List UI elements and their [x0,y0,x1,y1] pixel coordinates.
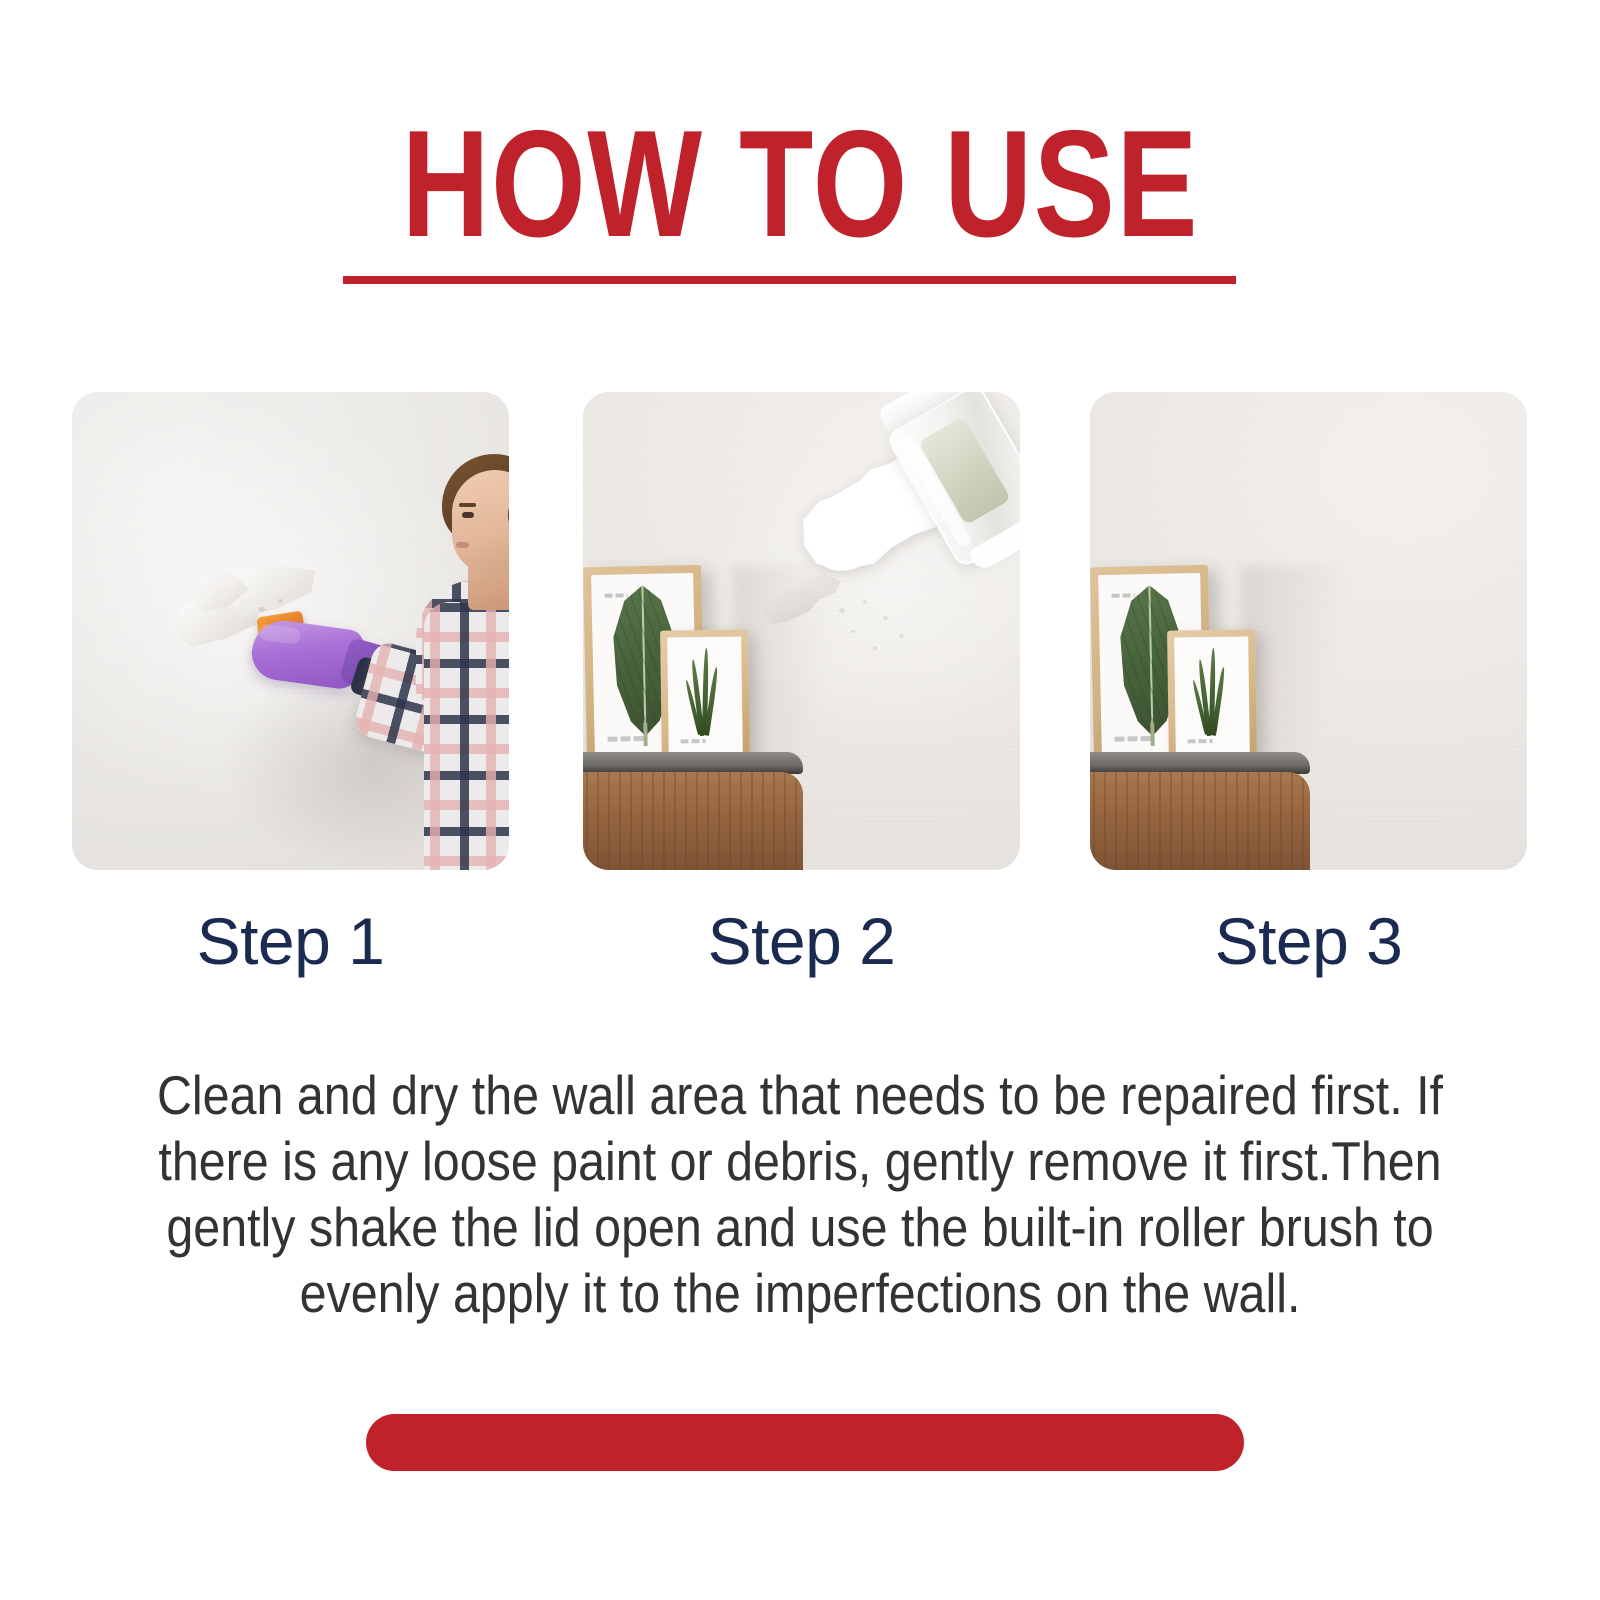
wooden-sideboard [1090,752,1310,870]
page-title: HOW TO USE [0,108,1600,260]
artwork-caption [1187,739,1212,743]
leaf-stem [644,723,648,747]
step-cards-row [0,392,1600,870]
instructions-paragraph: Clean and dry the wall area that needs t… [144,1062,1455,1326]
plaid-torso [424,602,509,870]
artwork-caption [680,739,705,743]
frame-cast-shadow [1240,566,1360,762]
step-image-card-3[interactable] [1090,392,1527,870]
plaid-pattern [424,602,509,870]
sideboard-wood-body [1090,772,1310,870]
step-1-illustration [72,392,509,870]
step-label-1: Step 1 [72,898,509,984]
artwork-caption [608,736,646,742]
eye [462,512,474,518]
step-3-illustration [1090,392,1527,870]
step-image-card-2[interactable] [583,392,1020,870]
bottom-accent-bar [366,1414,1244,1471]
lips [456,542,469,548]
artwork-caption-top [605,594,627,598]
step-label-3: Step 3 [1090,898,1527,984]
step-label-2: Step 2 [583,898,1020,984]
eyebrow [459,503,476,507]
title-underline-rule [343,276,1236,284]
step-image-card-1[interactable] [72,392,509,870]
sideboard-top-surface [583,752,803,774]
sideboard-top-surface [1090,752,1310,774]
artwork-caption-top [1112,594,1134,598]
snake-plant-artwork [1181,644,1242,749]
head-face [452,470,509,574]
wooden-sideboard [583,752,803,870]
sideboard-wood-body [583,772,803,870]
artwork-caption [1115,736,1153,742]
leaf-stem [1151,723,1155,747]
step-labels-row: Step 1 Step 2 Step 3 [0,898,1600,984]
framed-snake-plant-print [1167,629,1257,762]
step-2-illustration [583,392,1020,870]
page-title-text: HOW TO USE [401,108,1198,260]
